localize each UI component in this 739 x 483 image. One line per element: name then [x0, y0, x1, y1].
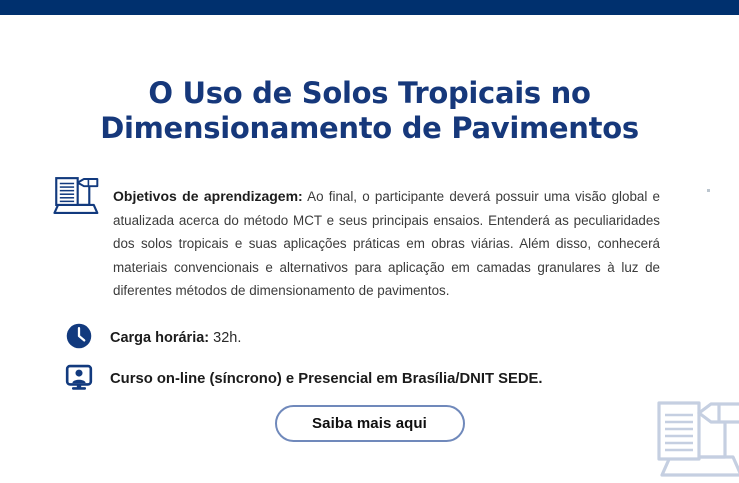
workload-label: Carga horária:: [110, 330, 209, 346]
learning-objectives-body: Ao final, o participante deverá possuir …: [113, 189, 660, 298]
clock-icon: [65, 322, 97, 354]
artifact-speck: [707, 189, 710, 192]
page-title-line-2: Dimensionamento de Pavimentos: [0, 111, 739, 146]
learning-objectives-label: Objetivos de aprendizagem:: [113, 188, 303, 204]
monitor-person-icon: [65, 363, 97, 395]
course-promo-card: O Uso de Solos Tropicais no Dimensioname…: [0, 0, 739, 483]
cta-container: Saiba mais aqui: [0, 405, 739, 442]
learning-objectives-section: Objetivos de aprendizagem: Ao final, o p…: [50, 172, 660, 316]
workload-text: Carga horária: 32h.: [110, 328, 241, 348]
workload-row: Carga horária: 32h.: [65, 322, 241, 354]
learning-objectives-text: Objetivos de aprendizagem: Ao final, o p…: [113, 185, 660, 303]
workload-value: 32h.: [209, 330, 241, 346]
laptop-document-pencil-icon: [50, 174, 100, 218]
saiba-mais-button[interactable]: Saiba mais aqui: [275, 405, 465, 442]
top-accent-bar: [0, 0, 739, 15]
modality-row: Curso on-line (síncrono) e Presencial em…: [65, 363, 543, 395]
modality-text: Curso on-line (síncrono) e Presencial em…: [110, 369, 543, 389]
page-title: O Uso de Solos Tropicais no Dimensioname…: [0, 76, 739, 146]
page-title-line-1: O Uso de Solos Tropicais no: [0, 76, 739, 111]
